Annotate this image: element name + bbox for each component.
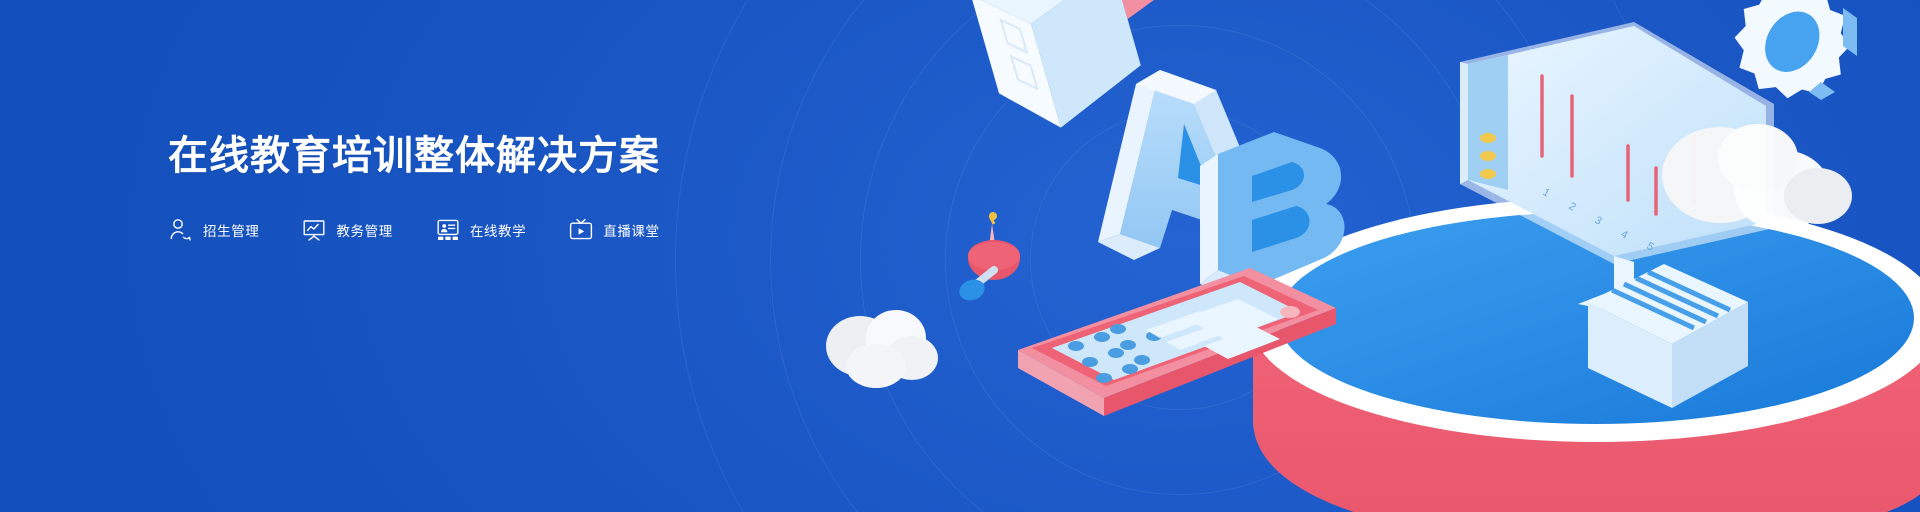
hero-content: 在线教育培训整体解决方案 招生管理 教务管理 <box>168 132 660 243</box>
feature-label: 直播课堂 <box>603 220 659 240</box>
cloud-large <box>1662 124 1852 230</box>
page-title: 在线教育培训整体解决方案 <box>168 132 660 180</box>
feature-item-enrollment[interactable]: 招生管理 <box>168 217 259 243</box>
feature-item-academic-affairs[interactable]: 教务管理 <box>301 217 392 243</box>
user-person-icon <box>168 217 194 243</box>
hero-illustration: 1 2 3 4 5 <box>700 0 1920 512</box>
teacher-whiteboard-icon <box>435 217 461 243</box>
feature-item-online-teaching[interactable]: 在线教学 <box>435 217 526 243</box>
feature-label: 在线教学 <box>470 220 526 240</box>
presentation-chart-icon <box>301 217 327 243</box>
cloud-small <box>826 310 938 388</box>
spinning-top <box>956 212 1020 304</box>
feature-list: 招生管理 教务管理 <box>168 217 660 243</box>
feature-item-live-classroom[interactable]: 直播课堂 <box>568 217 659 243</box>
feature-label: 招生管理 <box>203 220 259 240</box>
education-hero-banner: 1 2 3 4 5 <box>0 0 1920 512</box>
feature-label: 教务管理 <box>336 220 392 240</box>
tv-play-icon <box>568 217 594 243</box>
